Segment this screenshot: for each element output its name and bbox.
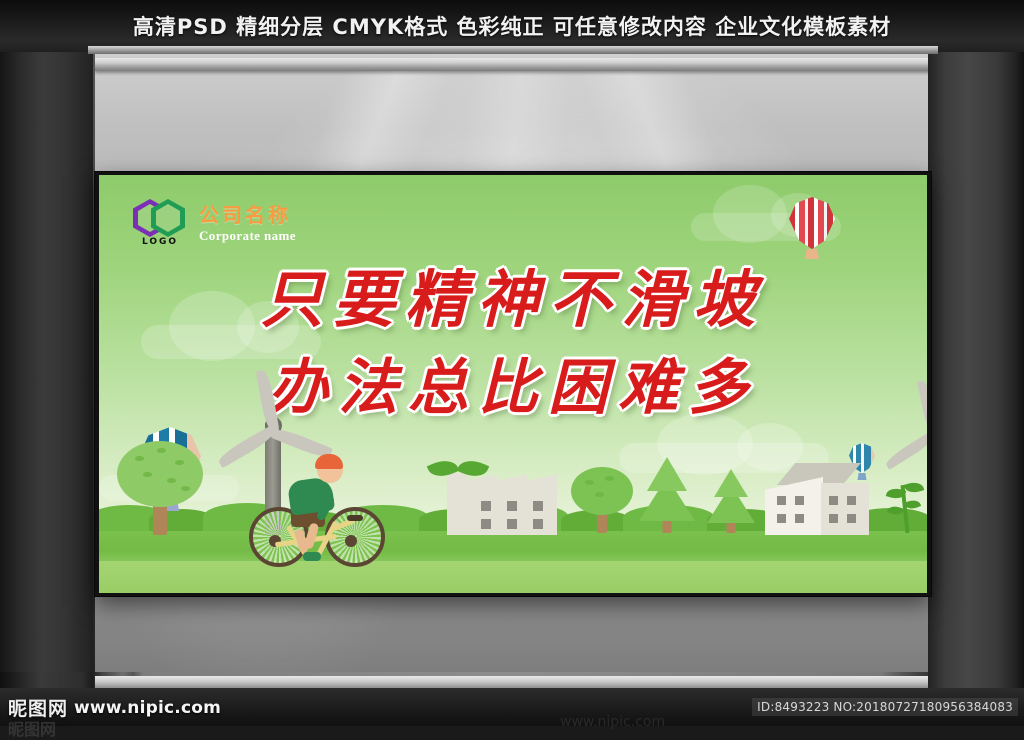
pine-tree	[707, 463, 755, 533]
ground-near	[99, 561, 927, 593]
image-id-text: ID:8493223 NO:20180727180956384083	[752, 698, 1018, 716]
top-feature-banner: 高清PSD 精细分层 CMYK格式 色彩纯正 可任意修改内容 企业文化模板素材	[0, 0, 1024, 52]
right-wall-pillar	[928, 0, 1024, 726]
cyclist	[247, 449, 387, 567]
left-wall-pillar	[0, 52, 95, 672]
headline-line-2: 办法总比困难多	[99, 356, 927, 421]
hot-air-balloon-red	[789, 197, 835, 249]
site-watermark-ghost: 昵图网	[8, 716, 56, 740]
top-banner-text: 高清PSD 精细分层 CMYK格式 色彩纯正 可任意修改内容 企业文化模板素材	[133, 11, 891, 41]
company-name-en: Corporate name	[199, 229, 296, 243]
pine-tree	[639, 447, 695, 533]
rider-hair	[315, 454, 343, 469]
site-url-ghost: www.nipic.com	[560, 714, 665, 730]
rider-shoe	[303, 552, 321, 561]
house	[759, 461, 879, 535]
poster-logo-block: LOGO 公司名称 Corporate name	[131, 195, 296, 253]
company-name-group: 公司名称 Corporate name	[199, 204, 296, 243]
headline-line-1: 只要精神不滑坡	[99, 267, 927, 334]
company-name-cn: 公司名称	[199, 204, 296, 226]
tree	[117, 439, 203, 535]
poster-frame: LOGO 公司名称 Corporate name 只要精神不滑坡 办法总比困难多	[95, 172, 931, 596]
poster-artwork: LOGO 公司名称 Corporate name 只要精神不滑坡 办法总比困难多	[99, 175, 927, 593]
logo-wordmark: LOGO	[137, 237, 183, 247]
wall-molding-bottom	[95, 676, 933, 688]
poster-headline: 只要精神不滑坡 办法总比困难多	[99, 267, 927, 421]
hexagon-logo-icon: LOGO	[131, 195, 189, 253]
wall-molding-top	[95, 58, 933, 71]
room-scene: 高清PSD 精细分层 CMYK格式 色彩纯正 可任意修改内容 企业文化模板素材 …	[0, 0, 1024, 726]
wind-turbine	[889, 395, 927, 535]
site-url: www.nipic.com	[74, 698, 221, 718]
factory-with-leaves	[437, 457, 557, 535]
tree	[571, 467, 633, 533]
